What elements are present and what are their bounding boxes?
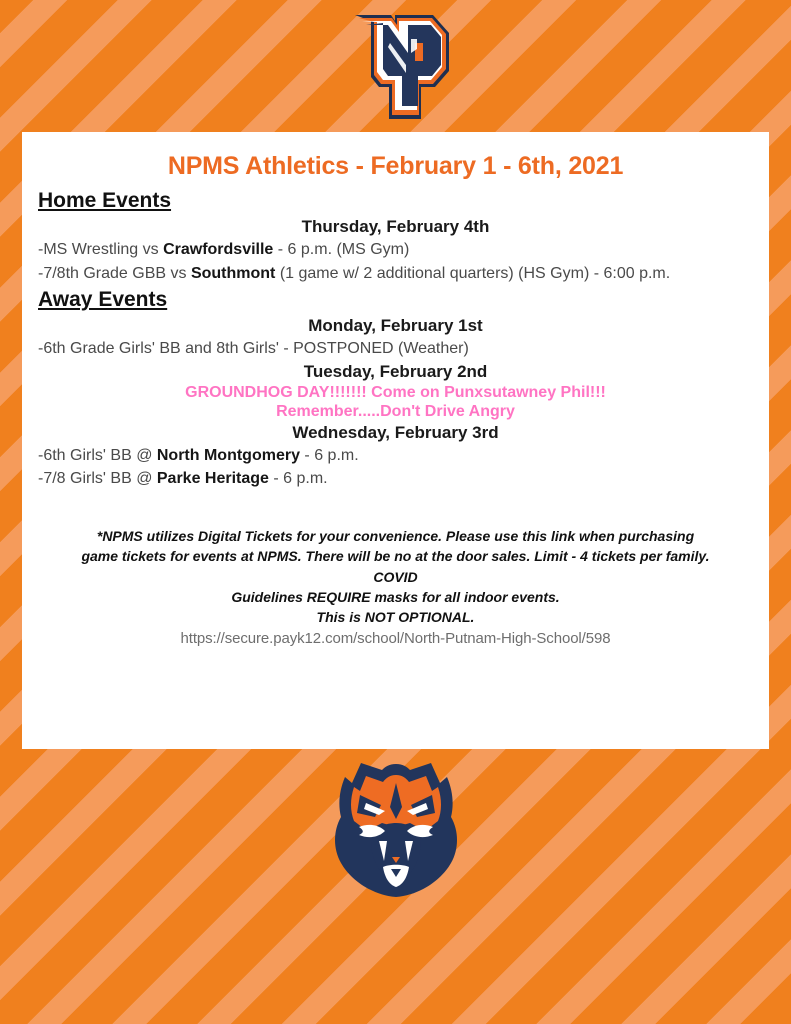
day-heading-monday: Monday, February 1st (38, 316, 753, 336)
event-text-post: - 6 p.m. (300, 447, 359, 464)
flyer-card: NPMS Athletics - February 1 - 6th, 2021 … (22, 132, 769, 749)
event-text-post: - 6 p.m. (MS Gym) (273, 241, 409, 258)
digital-tickets-disclaimer: *NPMS utilizes Digital Tickets for your … (38, 526, 753, 627)
day-heading-tuesday: Tuesday, February 2nd (38, 362, 753, 382)
day-heading-wednesday: Wednesday, February 3rd (38, 423, 753, 443)
event-row: -7/8th Grade GBB vs Southmont (1 game w/… (38, 263, 753, 285)
section-heading-home: Home Events (38, 189, 171, 213)
event-opponent: Crawfordsville (163, 241, 273, 258)
event-row: -6th Grade Girls' BB and 8th Girls' - PO… (38, 338, 753, 360)
disclaimer-line-2: game tickets for events at NPMS. There w… (74, 546, 717, 587)
event-text-post: (1 game w/ 2 additional quarters) (HS Gy… (275, 265, 670, 282)
event-text-pre: 6th Girls' BB @ (43, 447, 157, 464)
groundhog-note-line-1: GROUNDHOG DAY!!!!!!! Come on Punxsutawne… (38, 384, 753, 402)
spacer (38, 492, 753, 526)
section-heading-away: Away Events (38, 288, 167, 312)
event-row: -7/8 Girls' BB @ Parke Heritage - 6 p.m. (38, 468, 753, 490)
event-row: -MS Wrestling vs Crawfordsville - 6 p.m.… (38, 239, 753, 261)
np-monogram-logo (343, 7, 449, 125)
event-opponent: Southmont (191, 265, 275, 282)
event-text-pre: 7/8th Grade GBB vs (43, 265, 191, 282)
event-text-pre: 7/8 Girls' BB @ (43, 470, 157, 487)
groundhog-note-line-2: Remember.....Don't Drive Angry (38, 403, 753, 421)
event-text-pre: 6th Grade Girls' BB and 8th Girls' - POS… (43, 340, 469, 357)
section-home-events: Home Events (38, 187, 753, 215)
disclaimer-line-1: *NPMS utilizes Digital Tickets for your … (74, 526, 717, 546)
disclaimer-line-4: This is NOT OPTIONAL. (74, 607, 717, 627)
bottom-mascot-band (0, 749, 791, 1024)
ticket-purchase-link[interactable]: https://secure.payk12.com/school/North-P… (38, 630, 753, 647)
top-logo-band (0, 0, 791, 132)
section-away-events: Away Events (38, 286, 753, 314)
event-text-post: - 6 p.m. (269, 470, 328, 487)
event-opponent: Parke Heritage (157, 470, 269, 487)
page-title: NPMS Athletics - February 1 - 6th, 2021 (38, 152, 753, 181)
disclaimer-line-3: Guidelines REQUIRE masks for all indoor … (74, 587, 717, 607)
event-row: -6th Girls' BB @ North Montgomery - 6 p.… (38, 445, 753, 467)
panther-head-mascot-logo (319, 761, 473, 901)
event-opponent: North Montgomery (157, 447, 300, 464)
day-heading-thursday: Thursday, February 4th (38, 217, 753, 237)
event-text-pre: MS Wrestling vs (43, 241, 163, 258)
